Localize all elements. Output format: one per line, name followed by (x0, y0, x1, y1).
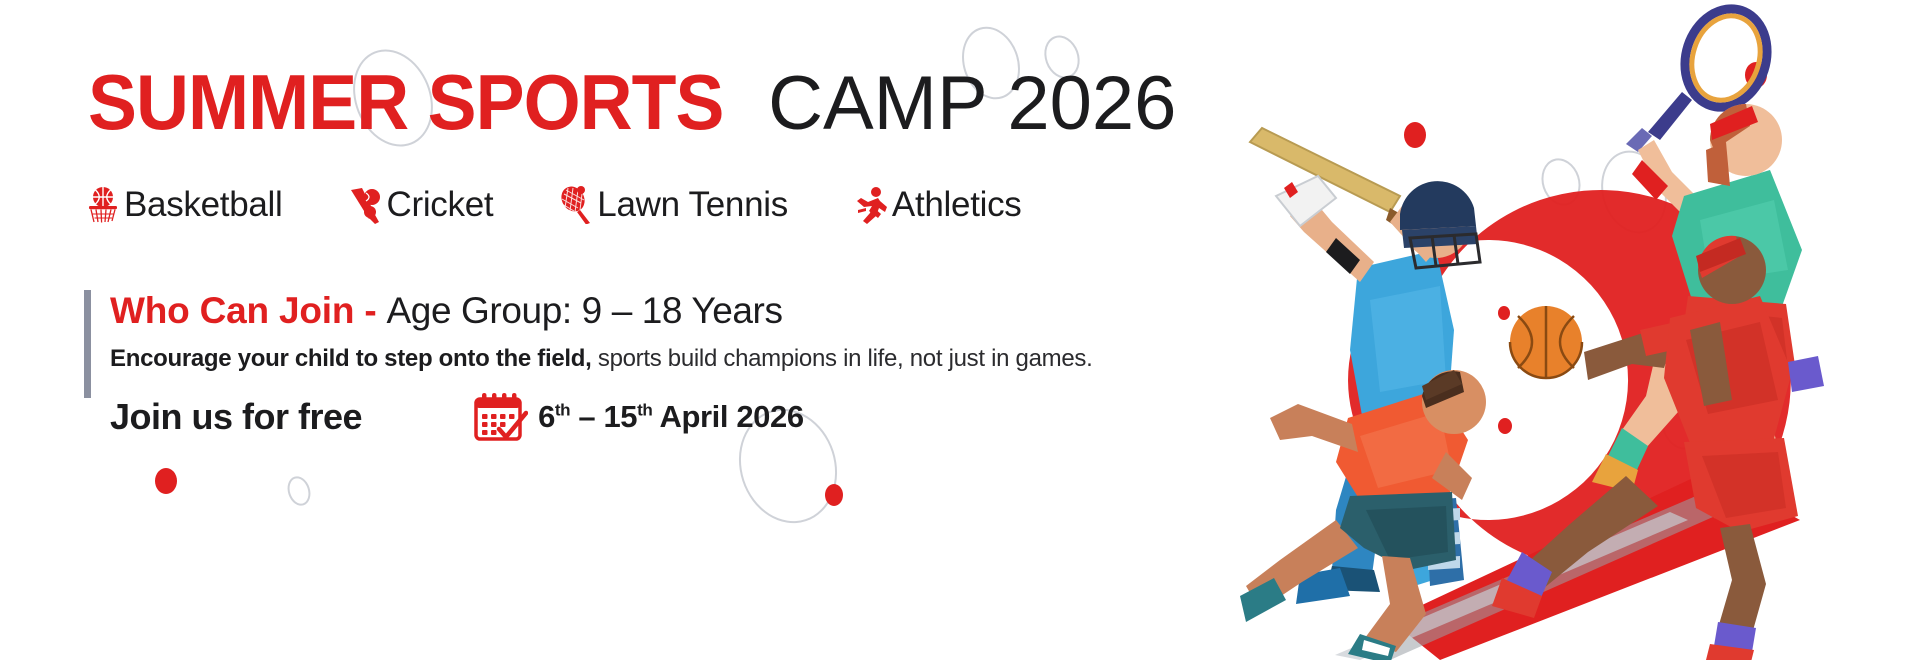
who-can-join-label: Who Can Join - (110, 290, 387, 331)
sport-label: Cricket (386, 185, 493, 225)
sport-item-cricket: Cricket (348, 185, 493, 225)
date-day-end-ordinal: th (637, 401, 652, 420)
banner-content: SUMMER SPORTSCAMP 2026 BasketballCricket… (0, 0, 1300, 660)
summer-sports-camp-banner: SUMMER SPORTSCAMP 2026 BasketballCricket… (0, 0, 1920, 660)
camp-date-group: 6th – 15th April 2026 (472, 391, 804, 443)
page-title: SUMMER SPORTSCAMP 2026 (88, 63, 1176, 142)
accent-bar (84, 290, 91, 398)
sport-item-athletics: Athletics (854, 185, 1022, 225)
sport-label: Lawn Tennis (597, 185, 788, 225)
basketball-hoop-icon (86, 186, 120, 224)
headline-strong: SUMMER SPORTS (88, 63, 723, 141)
sport-label: Basketball (124, 185, 282, 225)
info-block: Who Can Join - Age Group: 9 – 18 Years E… (84, 290, 1092, 443)
calendar-check-icon (472, 391, 528, 443)
sport-item-basketball: Basketball (86, 185, 282, 225)
sports-list: BasketballCricketLawn TennisAthletics (86, 185, 1022, 225)
encourage-strong-text: Encourage your child to step onto the fi… (110, 345, 592, 372)
join-row: Join us for free (110, 391, 1092, 443)
encourage-rest-text: sports build champions in life, not just… (592, 345, 1093, 372)
date-separator: – (570, 399, 603, 434)
sports-athletes-illustration (1240, 0, 1920, 660)
tennis-racket-icon (559, 186, 593, 224)
date-day-start-ordinal: th (555, 401, 570, 420)
date-month-year: April 2026 (652, 399, 803, 434)
age-group-value: Age Group: 9 – 18 Years (387, 290, 783, 331)
who-can-join-line: Who Can Join - Age Group: 9 – 18 Years (110, 292, 1092, 329)
headline-light: CAMP 2026 (768, 61, 1176, 146)
sport-item-lawn-tennis: Lawn Tennis (559, 185, 788, 225)
running-person-icon (854, 186, 888, 224)
sport-label: Athletics (892, 185, 1022, 225)
date-day-end: 15 (603, 399, 637, 434)
date-day-start: 6 (538, 399, 555, 434)
encourage-line: Encourage your child to step onto the fi… (110, 347, 1092, 371)
camp-date-text: 6th – 15th April 2026 (538, 399, 804, 435)
cricket-bat-ball-icon (348, 186, 382, 224)
join-us-for-free-text: Join us for free (110, 396, 362, 438)
